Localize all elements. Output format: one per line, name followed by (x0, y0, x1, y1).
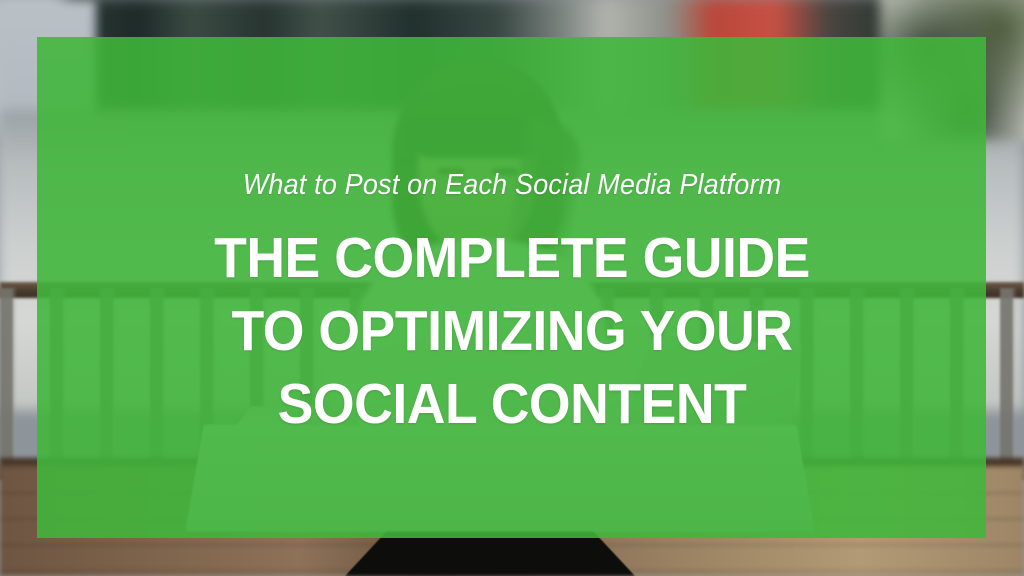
title-card-canvas: What to Post on Each Social Media Platfo… (0, 0, 1024, 576)
headline-line-1: THE COMPLETE GUIDE (31, 222, 994, 295)
headline-line-2: TO OPTIMIZING YOUR (31, 295, 994, 368)
headline-line-3: SOCIAL CONTENT (31, 368, 994, 441)
headline: THE COMPLETE GUIDE TO OPTIMIZING YOUR SO… (0, 222, 1024, 441)
subtitle: What to Post on Each Social Media Platfo… (36, 168, 988, 202)
